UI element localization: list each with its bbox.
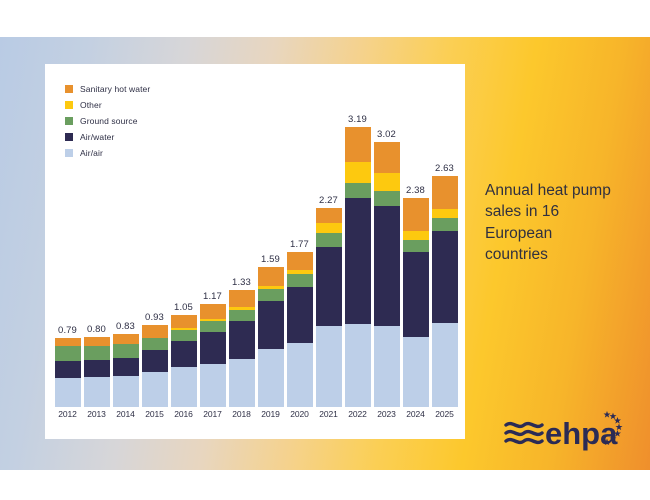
bar-segment: [403, 240, 429, 252]
bar-segment: [345, 183, 371, 198]
bar-segment: [84, 360, 110, 378]
bar-segment: [84, 346, 110, 360]
bar-value-label: 1.77: [290, 239, 309, 250]
bar-column[interactable]: 0.93: [142, 104, 168, 407]
bar-column[interactable]: 3.02: [374, 104, 400, 407]
bar-segment: [316, 326, 342, 407]
bar-segment: [200, 321, 226, 332]
bar-segment: [374, 326, 400, 407]
bar-value-label: 1.17: [203, 291, 222, 302]
bar-segment: [316, 247, 342, 326]
ehpa-wordmark: ehpa: [545, 416, 618, 451]
bar-stack: 2.27: [316, 208, 342, 407]
bar-segment: [287, 252, 313, 270]
x-tick-label: 2020: [287, 409, 313, 429]
ehpa-logo: ehpa: [503, 409, 623, 455]
x-tick-label: 2017: [200, 409, 226, 429]
bar-segment: [55, 346, 81, 361]
bar-column[interactable]: 2.38: [403, 104, 429, 407]
x-tick-label: 2018: [229, 409, 255, 429]
bar-segment: [229, 310, 255, 321]
bar-segment: [432, 176, 458, 208]
bar-segment: [142, 372, 168, 407]
bar-column[interactable]: 0.83: [113, 104, 139, 407]
bar-value-label: 2.63: [435, 163, 454, 174]
bar-segment: [374, 173, 400, 191]
x-tick-label: 2023: [374, 409, 400, 429]
bar-column[interactable]: 0.80: [84, 104, 110, 407]
bar-segment: [229, 359, 255, 407]
x-tick-label: 2016: [171, 409, 197, 429]
bar-stack: 0.80: [84, 337, 110, 407]
bar-stack: 1.59: [258, 267, 284, 407]
bar-stack: 3.19: [345, 127, 371, 407]
bar-segment: [229, 290, 255, 307]
bar-column[interactable]: 1.17: [200, 104, 226, 407]
bar-stack: 2.38: [403, 198, 429, 407]
bar-segment: [171, 315, 197, 328]
x-tick-label: 2024: [403, 409, 429, 429]
bar-value-label: 1.59: [261, 254, 280, 265]
bar-stack: 1.05: [171, 315, 197, 407]
bar-segment: [345, 127, 371, 162]
ehpa-logo-svg: ehpa: [503, 409, 623, 455]
bar-segment: [432, 231, 458, 322]
bar-value-label: 2.38: [406, 185, 425, 196]
bar-value-label: 1.05: [174, 302, 193, 313]
bar-segment: [316, 233, 342, 247]
bar-column[interactable]: 1.59: [258, 104, 284, 407]
x-tick-label: 2014: [113, 409, 139, 429]
bar-segment: [200, 332, 226, 364]
bar-segment: [171, 367, 197, 407]
bar-segment: [258, 289, 284, 300]
bar-segment: [403, 252, 429, 336]
bar-column[interactable]: 1.33: [229, 104, 255, 407]
bar-column[interactable]: 2.63: [432, 104, 458, 407]
slide-title: Annual heat pump sales in 16 European co…: [485, 180, 615, 266]
bar-segment: [374, 191, 400, 206]
bar-column[interactable]: 3.19: [345, 104, 371, 407]
bar-segment: [142, 325, 168, 337]
bar-segment: [113, 358, 139, 376]
bar-segment: [55, 338, 81, 347]
x-tick-label: 2021: [316, 409, 342, 429]
bar-segment: [258, 267, 284, 285]
bar-segment: [258, 349, 284, 407]
slide-background: Sanitary hot waterOtherGround sourceAir/…: [0, 37, 650, 470]
bar-segment: [55, 361, 81, 378]
bar-segment: [403, 198, 429, 231]
legend-swatch-icon: [65, 85, 73, 93]
bar-segment: [142, 338, 168, 350]
bar-segment: [374, 142, 400, 173]
bar-column[interactable]: 1.77: [287, 104, 313, 407]
bar-value-label: 0.80: [87, 324, 106, 335]
bar-segment: [113, 344, 139, 358]
bar-segment: [287, 274, 313, 286]
bar-stack: 0.83: [113, 334, 139, 407]
bar-segment: [432, 323, 458, 407]
bar-segment: [171, 341, 197, 367]
bar-column[interactable]: 0.79: [55, 104, 81, 407]
bar-value-label: 2.27: [319, 195, 338, 206]
bar-stack: 1.17: [200, 304, 226, 407]
bar-segment: [345, 324, 371, 407]
bar-segment: [374, 206, 400, 326]
bar-segment: [287, 287, 313, 343]
x-tick-label: 2022: [345, 409, 371, 429]
legend-item: Sanitary hot water: [65, 82, 150, 96]
bar-stack: 2.63: [432, 176, 458, 407]
bar-segment: [171, 330, 197, 341]
chart-plot-area: 0.790.800.830.931.051.171.331.591.772.27…: [53, 104, 459, 407]
bar-segment: [345, 162, 371, 183]
bar-series-container: 0.790.800.830.931.051.171.331.591.772.27…: [53, 104, 459, 407]
bar-value-label: 0.93: [145, 312, 164, 323]
bar-segment: [345, 198, 371, 324]
x-tick-label: 2019: [258, 409, 284, 429]
chart-card: Sanitary hot waterOtherGround sourceAir/…: [45, 64, 465, 439]
bar-segment: [142, 350, 168, 372]
bar-value-label: 3.19: [348, 114, 367, 125]
bar-segment: [200, 304, 226, 319]
bar-segment: [200, 364, 226, 407]
bar-value-label: 0.79: [58, 325, 77, 336]
wave-lines-icon: [506, 424, 542, 443]
bar-stack: 0.93: [142, 325, 168, 407]
legend-item-label: Sanitary hot water: [80, 84, 150, 94]
bar-segment: [432, 218, 458, 231]
bar-segment: [84, 377, 110, 407]
bar-stack: 3.02: [374, 142, 400, 407]
x-tick-label: 2025: [432, 409, 458, 429]
bar-column[interactable]: 1.05: [171, 104, 197, 407]
x-tick-label: 2015: [142, 409, 168, 429]
bar-column[interactable]: 2.27: [316, 104, 342, 407]
bar-segment: [287, 343, 313, 407]
bar-stack: 1.33: [229, 290, 255, 407]
bar-segment: [316, 208, 342, 224]
bar-segment: [229, 321, 255, 359]
bar-segment: [113, 376, 139, 407]
x-axis-tick-labels: 2012201320142015201620172018201920202021…: [53, 409, 459, 429]
bar-segment: [403, 231, 429, 240]
bar-stack: 0.79: [55, 338, 81, 407]
bar-segment: [55, 378, 81, 407]
bar-segment: [84, 337, 110, 346]
bar-value-label: 1.33: [232, 277, 251, 288]
bar-segment: [316, 223, 342, 233]
x-tick-label: 2012: [55, 409, 81, 429]
bar-stack: 1.77: [287, 252, 313, 407]
bar-segment: [258, 301, 284, 349]
bar-segment: [113, 334, 139, 344]
bar-segment: [432, 209, 458, 219]
x-tick-label: 2013: [84, 409, 110, 429]
bar-value-label: 0.83: [116, 321, 135, 332]
bar-segment: [403, 337, 429, 407]
bar-value-label: 3.02: [377, 129, 396, 140]
